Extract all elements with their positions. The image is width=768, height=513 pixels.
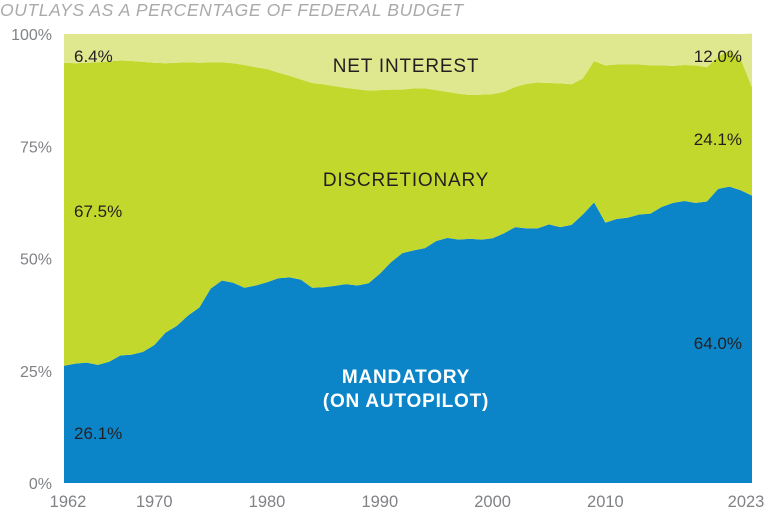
x-axis-tick-label: 1980	[249, 493, 286, 511]
discretionary-end-value: 24.1%	[694, 130, 742, 149]
area-bands	[64, 34, 752, 483]
y-axis-ticks: 0%25%50%75%100%	[11, 27, 52, 493]
net-interest-band-label: NET INTEREST	[333, 56, 480, 77]
discretionary-band-label: DISCRETIONARY	[323, 170, 489, 191]
x-axis-tick-label: 2010	[587, 493, 624, 511]
x-axis-tick-label: 2000	[474, 493, 511, 511]
net-interest-start-value: 6.4%	[74, 47, 113, 66]
y-axis-tick-label: 0%	[29, 476, 52, 493]
x-axis-ticks: 1962197019801990200020102023	[50, 493, 765, 511]
mandatory-start-value: 26.1%	[74, 424, 122, 443]
mandatory-band-label-line2: (ON AUTOPILOT)	[323, 391, 489, 412]
mandatory-band-label-line1: MANDATORY	[342, 367, 470, 388]
net-interest-end-value: 12.0%	[694, 47, 742, 66]
x-axis-tick-label: 1962	[50, 493, 87, 511]
x-axis-tick-label: 1990	[361, 493, 398, 511]
y-axis-tick-label: 75%	[20, 139, 52, 156]
mandatory-end-value: 64.0%	[694, 334, 742, 353]
x-axis-tick-label: 1970	[136, 493, 173, 511]
chart-figure: OUTLAYS AS A PERCENTAGE OF FEDERAL BUDGE…	[0, 0, 768, 513]
y-axis-tick-label: 50%	[20, 252, 52, 269]
x-axis-tick-label: 2023	[728, 493, 765, 511]
y-axis-tick-label: 25%	[20, 364, 52, 381]
discretionary-start-value: 67.5%	[74, 202, 122, 221]
stacked-area-chart: 0%25%50%75%100% 196219701980199020002010…	[0, 0, 768, 513]
y-axis-tick-label: 100%	[11, 27, 52, 44]
